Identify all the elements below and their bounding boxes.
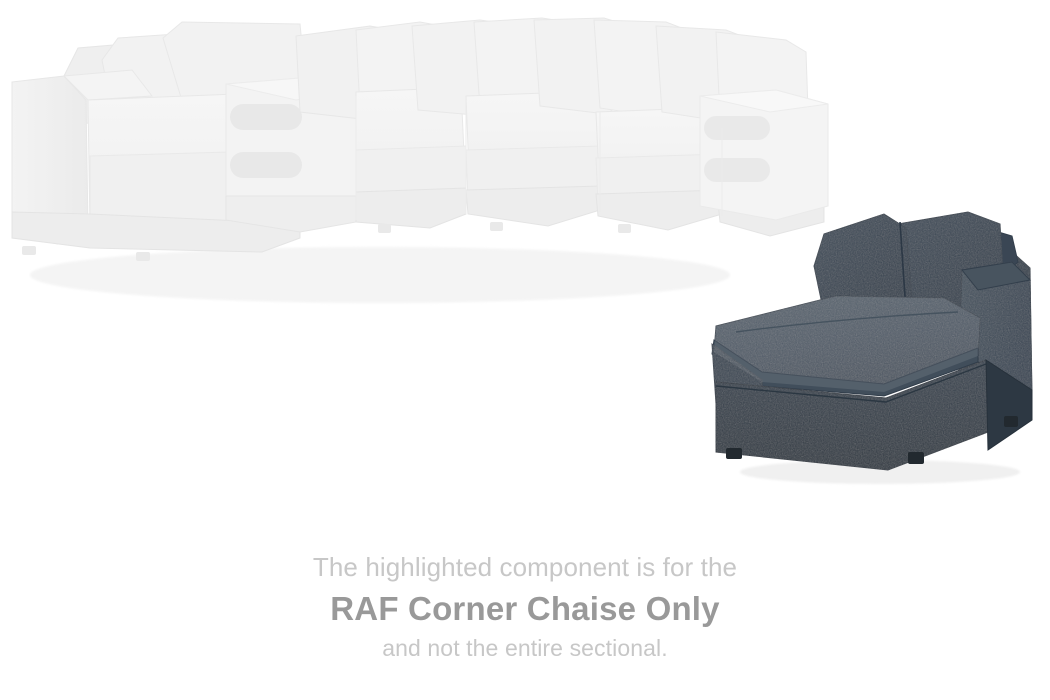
caption-line-component-name: RAF Corner Chaise Only [0, 586, 1050, 632]
ghost-cup-holder [704, 158, 770, 182]
sectional-illustration [0, 0, 1050, 520]
ghost-foot [490, 222, 503, 231]
caption-line-intro: The highlighted component is for the [0, 548, 1050, 586]
ghost-floor-shadow [30, 247, 730, 303]
ghost-foot [136, 252, 150, 261]
chaise-foot-left [726, 448, 742, 459]
highlighted-raf-corner-chaise[interactable] [712, 212, 1032, 484]
caption-block: The highlighted component is for the RAF… [0, 548, 1050, 665]
chaise-foot-front [908, 452, 924, 464]
product-image-canvas: The highlighted component is for the RAF… [0, 0, 1050, 700]
sectional-vector-art [0, 0, 1050, 520]
ghost-cup-holder [230, 152, 302, 178]
ghost-cup-holder [230, 104, 302, 130]
chaise-foot-right [1004, 416, 1018, 427]
ghosted-sectional-group [12, 18, 828, 303]
caption-line-disclaimer: and not the entire sectional. [0, 632, 1050, 665]
ghost-foot [618, 224, 631, 233]
ghost-foot [22, 246, 36, 255]
ghost-cup-holder [704, 116, 770, 140]
ghost-foot [378, 224, 391, 233]
ghost-module-console-right [700, 90, 828, 220]
